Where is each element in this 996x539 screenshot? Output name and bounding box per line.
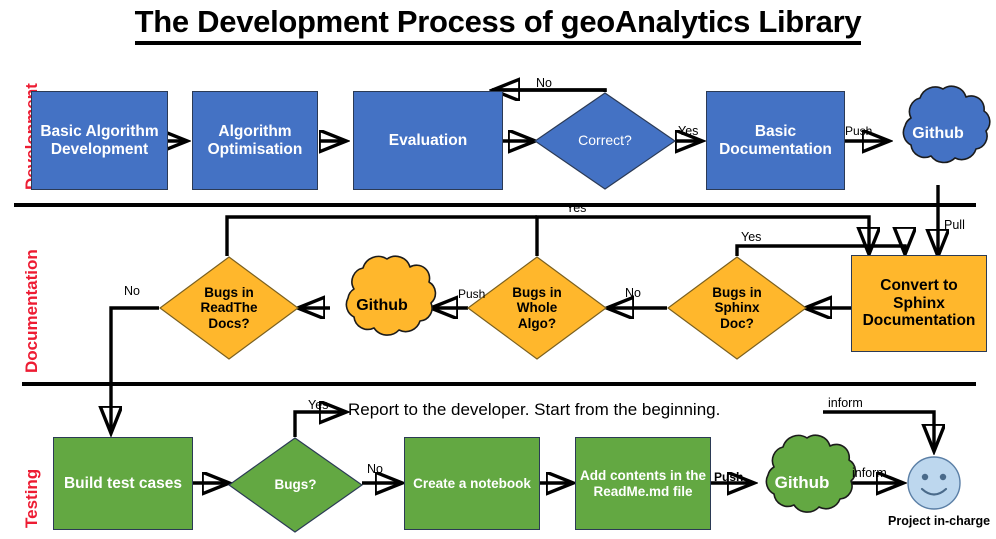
node-project-in-charge[interactable] [906,455,962,511]
edge-label-push-testing: Push [714,470,743,484]
edge-label-algo-yes: Yes [566,201,586,215]
node-evaluation[interactable]: Evaluation [353,91,503,190]
report-to-developer-text: Report to the developer. Start from the … [348,400,720,420]
bugs-in-readthedocs-shape [159,256,299,360]
github-testing-cloud-icon [747,432,857,534]
edge-label-sphinx-yes: Yes [741,230,761,244]
correct-decision-shape [534,92,676,190]
node-correct-decision[interactable]: Correct? [534,92,676,190]
node-bugs-decision[interactable]: Bugs? [228,437,363,533]
edge-label-readthedocs-no: No [124,284,140,298]
project-in-charge-caption: Project in-charge [888,514,990,528]
band-divider-2 [22,382,976,386]
node-add-contents-readme[interactable]: Add contents in the ReadMe.md file [575,437,711,530]
page-title-text: The Development Process of geoAnalytics … [135,4,862,45]
edge-label-inform-direct: inform [852,466,887,480]
github-development-cloud-icon [884,83,992,185]
node-algorithm-optimisation[interactable]: Algorithm Optimisation [192,91,318,190]
node-github-testing[interactable]: Github [747,432,857,534]
band-label-testing: Testing [22,469,42,528]
edge-label-push-development: Push [845,124,872,138]
node-basic-documentation[interactable]: Basic Documentation [706,91,845,190]
node-github-documentation[interactable]: Github [327,253,437,359]
edge-label-inform-top: inform [828,396,863,410]
bugs-in-whole-algo-shape [467,256,607,360]
node-build-test-cases[interactable]: Build test cases [53,437,193,530]
band-label-documentation: Documentation [22,249,42,373]
edge-label-correct-yes: Yes [678,124,698,138]
node-basic-algorithm-development[interactable]: Basic Algorithm Development [31,91,168,190]
bugs-decision-shape [228,437,363,533]
node-github-development[interactable]: Github [884,83,992,185]
smiley-face-icon [906,455,962,511]
band-divider-1 [14,203,976,207]
node-bugs-in-readthedocs[interactable]: Bugs in ReadThe Docs? [159,256,299,360]
node-bugs-in-whole-algo[interactable]: Bugs in Whole Algo? [467,256,607,360]
flowchart-canvas: The Development Process of geoAnalytics … [0,0,996,536]
edge-label-sphinx-no: No [625,286,641,300]
edge-label-bugs-yes: Yes [308,398,328,412]
bugs-in-sphinx-doc-shape [667,256,807,360]
edge-label-pull: Pull [944,218,965,232]
github-documentation-cloud-icon [327,253,437,359]
node-create-a-notebook[interactable]: Create a notebook [404,437,540,530]
edge-label-push-documentation: Push [458,287,485,301]
page-title: The Development Process of geoAnalytics … [0,4,996,40]
edge-label-bugs-no: No [367,462,383,476]
node-bugs-in-sphinx-doc[interactable]: Bugs in Sphinx Doc? [667,256,807,360]
edge-label-correct-no: No [536,76,552,90]
node-convert-to-sphinx-documentation[interactable]: Convert to Sphinx Documentation [851,255,987,352]
